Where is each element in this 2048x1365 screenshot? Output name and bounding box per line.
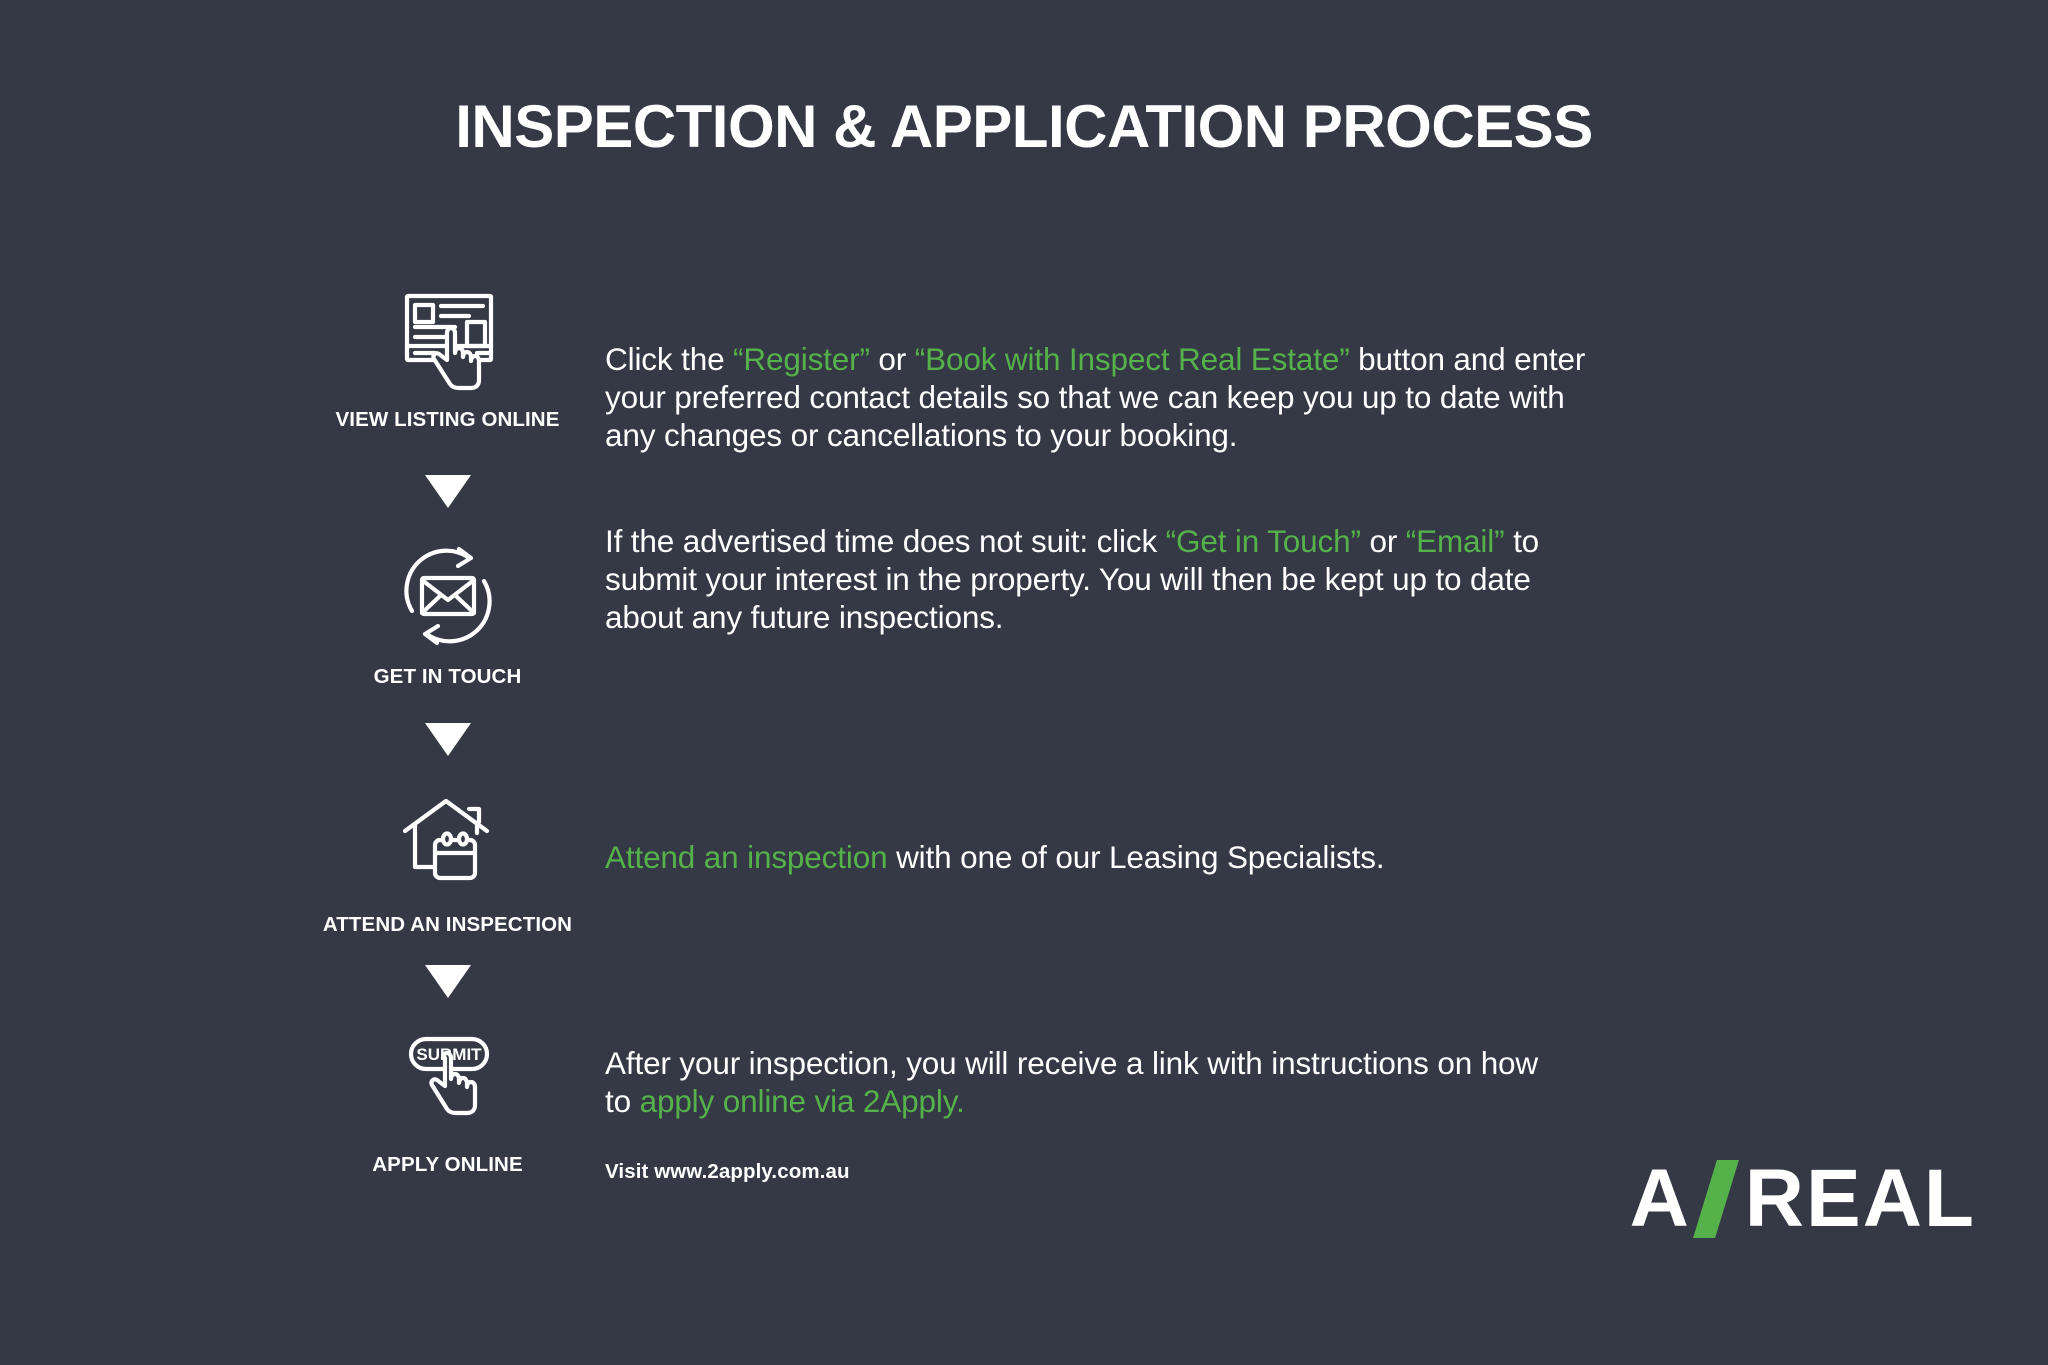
text-run: Click the bbox=[605, 341, 733, 377]
text-run: or bbox=[1361, 523, 1406, 559]
poster-root: INSPECTION & APPLICATION PROCESS VIEW LI… bbox=[0, 0, 2048, 1365]
chevron-down-icon bbox=[425, 475, 471, 508]
chevron-down-icon bbox=[425, 965, 471, 998]
highlighted-text-run: “Register” bbox=[733, 341, 870, 377]
step-label-attend-an-inspection: ATTEND AN INSPECTION bbox=[240, 913, 655, 937]
step-label-apply-online: APPLY ONLINE bbox=[240, 1153, 655, 1177]
flow-arrow-2 bbox=[240, 723, 655, 761]
house-calendar-icon bbox=[389, 785, 507, 903]
process-flow-column: VIEW LISTING ONLINE GET IN TOUCH bbox=[240, 280, 655, 1185]
step-label-get-in-touch: GET IN TOUCH bbox=[240, 665, 655, 689]
brand-logo: A REAL bbox=[1630, 1158, 1976, 1240]
highlighted-text-run: Attend an inspection bbox=[605, 839, 887, 875]
step-text-get-in-touch: If the advertised time does not suit: cl… bbox=[605, 522, 1615, 636]
text-run: with one of our Leasing Specialists. bbox=[887, 839, 1384, 875]
brand-logo-real: REAL bbox=[1745, 1158, 1976, 1240]
submit-button-cursor-icon: SUBMIT bbox=[389, 1025, 507, 1143]
envelope-refresh-icon bbox=[389, 537, 507, 655]
step-text-attend-an-inspection: Attend an inspection with one of our Lea… bbox=[605, 838, 1615, 876]
step-attend-an-inspection: ATTEND AN INSPECTION bbox=[240, 785, 655, 945]
highlighted-text-run: apply online via 2Apply. bbox=[640, 1083, 965, 1119]
brand-logo-slash-icon bbox=[1693, 1160, 1739, 1238]
text-run: If the advertised time does not suit: cl… bbox=[605, 523, 1166, 559]
step-view-listing-online: VIEW LISTING ONLINE bbox=[240, 280, 655, 455]
page-title: INSPECTION & APPLICATION PROCESS bbox=[0, 92, 2048, 161]
step-label-view-listing-online: VIEW LISTING ONLINE bbox=[240, 408, 655, 432]
flow-arrow-1 bbox=[240, 475, 655, 513]
listing-window-cursor-icon bbox=[389, 280, 507, 398]
highlighted-text-run: “Get in Touch” bbox=[1166, 523, 1361, 559]
visit-url-note: Visit www.2apply.com.au bbox=[605, 1160, 850, 1184]
chevron-down-icon bbox=[425, 723, 471, 756]
flow-arrow-3 bbox=[240, 965, 655, 1003]
highlighted-text-run: “Book with Inspect Real Estate” bbox=[915, 341, 1350, 377]
text-run: or bbox=[870, 341, 915, 377]
step-text-view-listing-online: Click the “Register” or “Book with Inspe… bbox=[605, 340, 1615, 454]
step-text-apply-online: After your inspection, you will receive … bbox=[605, 1044, 1565, 1120]
step-get-in-touch: GET IN TOUCH bbox=[240, 537, 655, 697]
step-apply-online: SUBMIT APPLY ONLINE bbox=[240, 1025, 655, 1185]
highlighted-text-run: “Email” bbox=[1406, 523, 1505, 559]
brand-logo-a: A bbox=[1630, 1158, 1691, 1240]
